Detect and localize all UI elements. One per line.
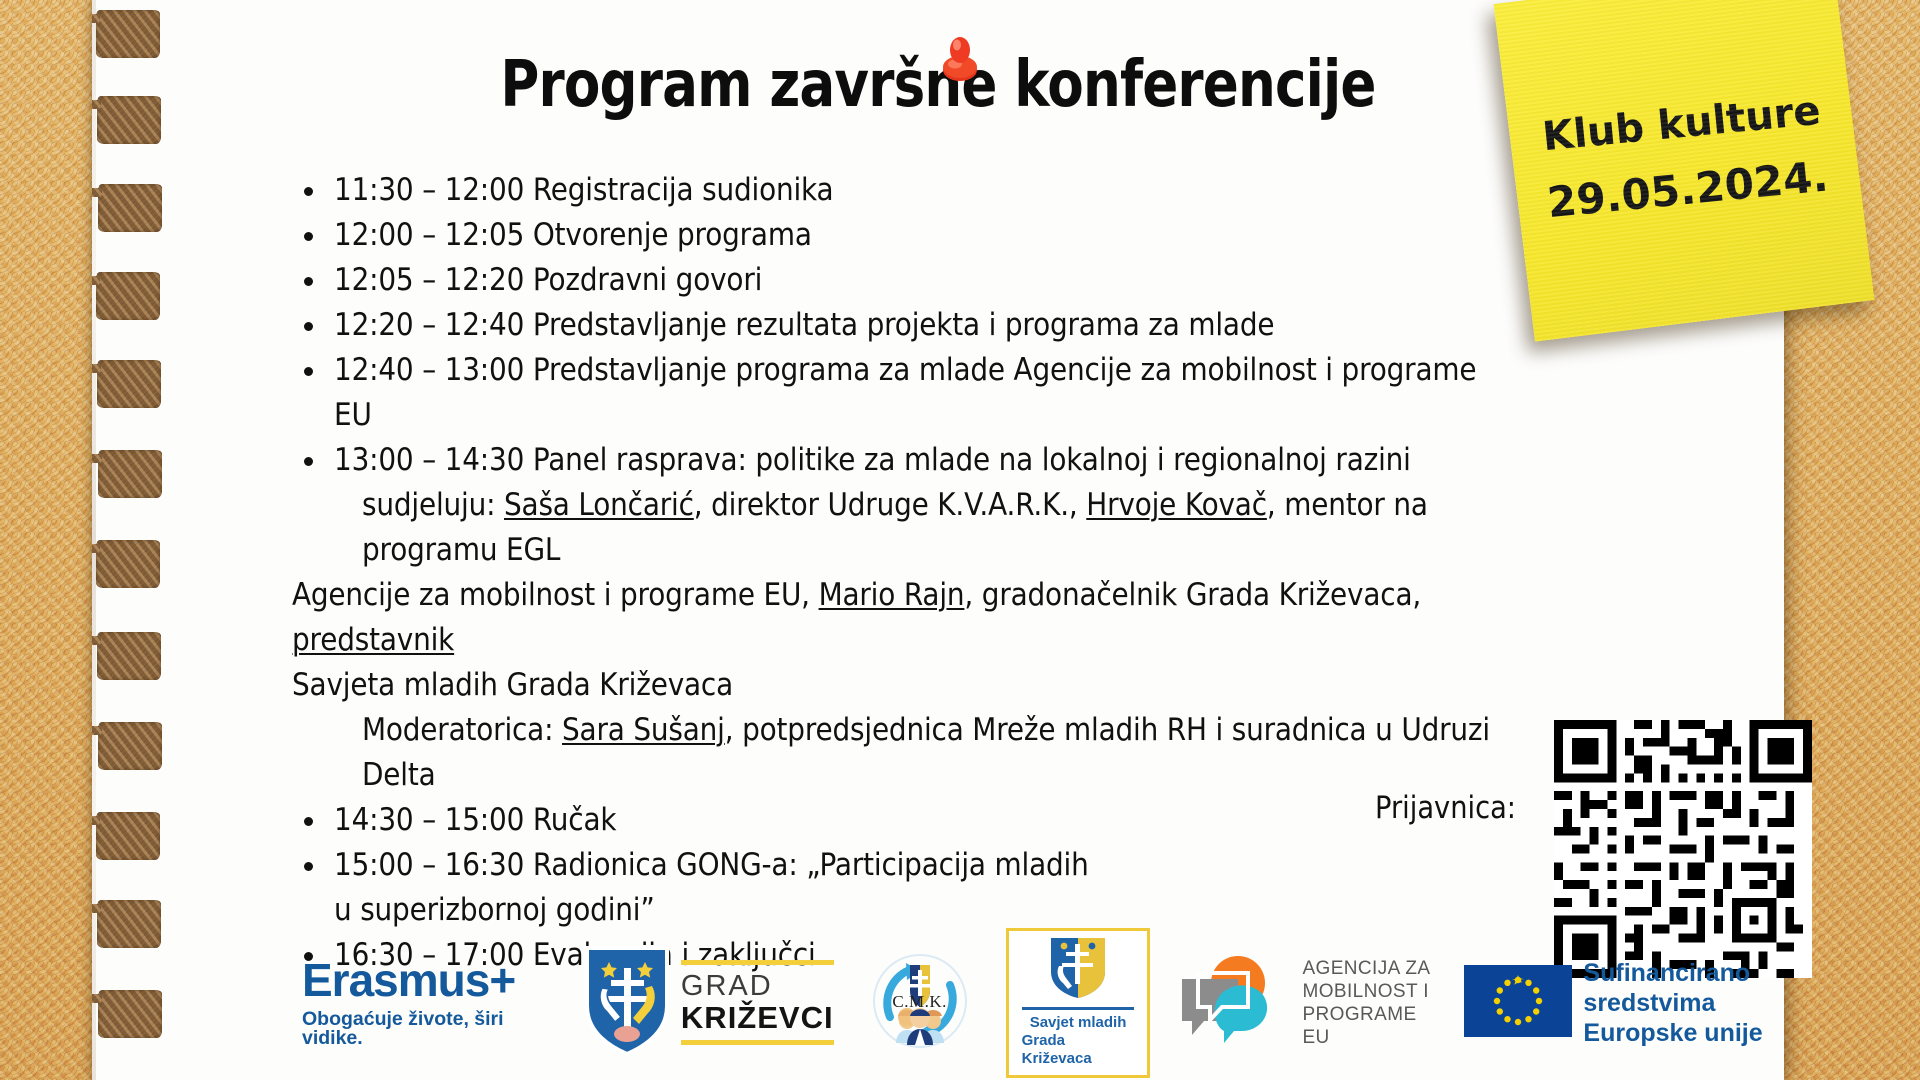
punch-hole bbox=[97, 96, 161, 144]
program-detail-line: Moderatorica: Sara Sušanj, potpredsjedni… bbox=[292, 708, 1652, 798]
program-detail-line: u superizbornoj godini” bbox=[292, 888, 1652, 933]
erasmus-tagline: Obogaćuje živote, širi vidike. bbox=[302, 1010, 559, 1049]
grad-label: GRAD bbox=[681, 972, 834, 1001]
program-item-text: 15:00 – 16:30 Radionica GONG-a: „Partici… bbox=[334, 843, 1089, 888]
punch-hole bbox=[97, 900, 161, 948]
notebook-punch-holes bbox=[92, 0, 172, 1080]
punch-hole bbox=[97, 632, 161, 680]
bullet-icon bbox=[304, 187, 313, 196]
speech-bubbles-icon bbox=[1176, 949, 1292, 1057]
program-item-text: 12:40 – 13:00 Predstavljanje programa za… bbox=[334, 348, 1520, 438]
punch-hole bbox=[98, 450, 162, 498]
punch-hole bbox=[96, 272, 160, 320]
bullet-icon bbox=[304, 277, 313, 286]
punch-hole bbox=[98, 990, 162, 1038]
cmk-label: C.M.K. bbox=[860, 992, 980, 1012]
logo-cmk: C.M.K. bbox=[860, 948, 980, 1058]
sticky-note-venue: Klub kulture bbox=[1540, 88, 1822, 161]
bullet-icon bbox=[304, 457, 313, 466]
sticky-note-text: Klub kulture 29.05.2024. bbox=[1508, 78, 1861, 236]
agencija-line3: PROGRAME EU bbox=[1302, 1003, 1438, 1049]
eu-cofunded-line1: Sufinancirano sredstvima bbox=[1583, 958, 1872, 1018]
agencija-text: AGENCIJA ZA MOBILNOST I PROGRAME EU bbox=[1302, 957, 1438, 1049]
bullet-icon bbox=[304, 817, 313, 826]
registration-label: Prijavnica: bbox=[1375, 790, 1516, 826]
program-detail-line: sudjeluju: Saša Lončarić, direktor Udrug… bbox=[292, 483, 1652, 573]
program-item: 12:00 – 12:05 Otvorenje programa bbox=[292, 213, 1652, 258]
program-list: 11:30 – 12:00 Registracija sudionika12:0… bbox=[292, 168, 1652, 978]
sticky-note-date: 29.05.2024. bbox=[1515, 144, 1861, 237]
program-detail-line: Savjeta mladih Grada Križevaca bbox=[292, 663, 1652, 708]
program-item: 15:00 – 16:30 Radionica GONG-a: „Partici… bbox=[292, 843, 1652, 888]
program-detail-line: Agencije za mobilnost i programe EU, Mar… bbox=[292, 573, 1652, 663]
agencija-line2: MOBILNOST I bbox=[1302, 980, 1438, 1003]
program-item-text: sudjeluju: Saša Lončarić, direktor Udrug… bbox=[362, 483, 1523, 573]
punch-hole bbox=[96, 540, 160, 588]
program-item-text: Agencije za mobilnost i programe EU, Mar… bbox=[292, 573, 1516, 663]
grad-accent-bar-top bbox=[681, 960, 834, 965]
punch-hole bbox=[96, 10, 160, 58]
program-item-text: 11:30 – 12:00 Registracija sudionika bbox=[334, 168, 833, 213]
speaker-name: Sara Sušanj bbox=[562, 712, 725, 748]
logo-savjet-mladih: Savjet mladih Grada Križevaca bbox=[1006, 928, 1151, 1078]
program-item: 12:40 – 13:00 Predstavljanje programa za… bbox=[292, 348, 1652, 438]
erasmus-wordmark: Erasmus+ bbox=[302, 957, 515, 1003]
program-item-text: 13:00 – 14:30 Panel rasprava: politike z… bbox=[334, 438, 1411, 483]
logo-grad-krizevci: GRAD KRIŽEVCI bbox=[585, 946, 834, 1060]
program-item-text: 12:05 – 12:20 Pozdravni govori bbox=[334, 258, 762, 303]
krizevci-label: KRIŽEVCI bbox=[681, 1002, 834, 1033]
savjet-line2: Grada Križevaca bbox=[1022, 1032, 1135, 1068]
punch-hole bbox=[98, 722, 162, 770]
speaker-name: Hrvoje Kovač bbox=[1086, 487, 1267, 523]
bullet-icon bbox=[304, 862, 313, 871]
savjet-line1: Savjet mladih bbox=[1030, 1014, 1127, 1032]
logo-agencija-mobilnost: AGENCIJA ZA MOBILNOST I PROGRAME EU bbox=[1176, 949, 1438, 1057]
speaker-name: predstavnik bbox=[292, 622, 454, 658]
savjet-divider bbox=[1022, 1007, 1135, 1010]
punch-hole bbox=[98, 184, 162, 232]
program-item: 13:00 – 14:30 Panel rasprava: politike z… bbox=[292, 438, 1652, 483]
sticky-note[interactable]: Klub kulture 29.05.2024. bbox=[1494, 0, 1875, 342]
speaker-name: Mario Rajn bbox=[819, 577, 965, 613]
punch-hole bbox=[97, 360, 161, 408]
partner-logo-strip: Erasmus+ Obogaćuje živote, širi vidike. bbox=[302, 940, 1872, 1065]
program-item-text: 12:00 – 12:05 Otvorenje programa bbox=[334, 213, 812, 258]
program-item: 12:05 – 12:20 Pozdravni govori bbox=[292, 258, 1652, 303]
bullet-icon bbox=[304, 367, 313, 376]
speaker-name: Saša Lončarić bbox=[504, 487, 694, 523]
program-item-text: Savjeta mladih Grada Križevaca bbox=[292, 663, 733, 708]
punch-hole bbox=[96, 812, 160, 860]
krizevci-shield-icon bbox=[1049, 936, 1107, 1002]
program-item: 11:30 – 12:00 Registracija sudionika bbox=[292, 168, 1652, 213]
agencija-line1: AGENCIJA ZA bbox=[1302, 957, 1438, 980]
eu-cofunded-line2: Europske unije bbox=[1583, 1018, 1872, 1048]
bullet-icon bbox=[304, 232, 313, 241]
krizevci-coat-of-arms-icon bbox=[585, 946, 669, 1060]
logo-erasmus-plus: Erasmus+ Obogaćuje živote, širi vidike. bbox=[302, 957, 559, 1049]
program-item: 12:20 – 12:40 Predstavljanje rezultata p… bbox=[292, 303, 1652, 348]
bullet-icon bbox=[304, 322, 313, 331]
pushpin-icon bbox=[937, 30, 983, 86]
program-item-text: 14:30 – 15:00 Ručak bbox=[334, 798, 616, 843]
program-item-text: 12:20 – 12:40 Predstavljanje rezultata p… bbox=[334, 303, 1274, 348]
program-item-text: Moderatorica: Sara Sušanj, potpredsjedni… bbox=[362, 708, 1523, 798]
logo-eu-cofunded: Sufinancirano sredstvima Europske unije bbox=[1464, 958, 1872, 1048]
grad-accent-bar-bottom bbox=[681, 1040, 834, 1045]
program-item-text: u superizbornoj godini” bbox=[334, 888, 655, 933]
eu-flag-icon bbox=[1464, 965, 1572, 1041]
